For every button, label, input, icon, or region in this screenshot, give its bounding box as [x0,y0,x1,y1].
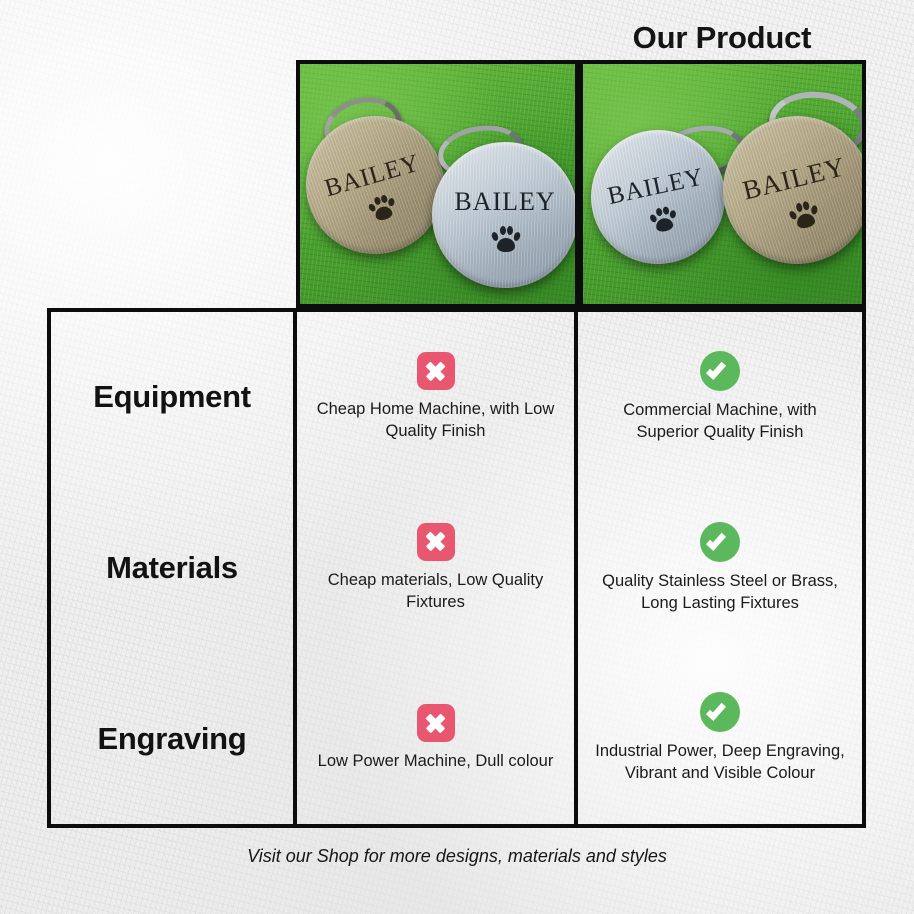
table-column-competitor: Cheap Home Machine, with Low Quality Fin… [297,312,578,824]
cell-text: Cheap materials, Low Quality Fixtures [309,570,562,614]
check-icon [700,351,740,391]
check-icon [700,692,740,732]
cell-text: Cheap Home Machine, with Low Quality Fin… [309,399,562,443]
cell-competitor-materials: Cheap materials, Low Quality Fixtures [297,483,574,654]
cell-text: Industrial Power, Deep Engraving, Vibran… [591,741,849,785]
cross-icon [417,704,455,742]
tag-engraved-name: BAILEY [605,164,706,209]
cell-competitor-equipment: Cheap Home Machine, with Low Quality Fin… [297,312,574,483]
infographic-canvas: Our Product BAILEY BAILEY [0,0,914,914]
footer-shop-note: Visit our Shop for more designs, materia… [0,846,914,867]
row-label-equipment: Equipment [51,312,293,483]
comparison-table: Equipment Materials Engraving Cheap Home… [47,308,866,828]
table-column-labels: Equipment Materials Engraving [51,312,297,824]
check-icon [700,522,740,562]
cell-text: Low Power Machine, Dull colour [318,751,554,773]
paw-print-icon [787,199,820,231]
cross-icon [417,523,455,561]
paw-print-icon [491,226,519,252]
tag-engraved-name: BAILEY [322,150,423,201]
competitor-product-photo: BAILEY BAILEY [296,60,579,308]
cell-text: Commercial Machine, with Superior Qualit… [591,400,849,444]
cell-ours-materials: Quality Stainless Steel or Brass, Long L… [578,483,862,654]
cell-competitor-engraving: Low Power Machine, Dull colour [297,653,574,824]
cross-icon [417,352,455,390]
our-product-photo: BAILEY BAILEY [579,60,866,308]
table-column-our-product: Commercial Machine, with Superior Qualit… [578,312,862,824]
row-label-engraving: Engraving [51,653,293,824]
paw-print-icon [366,193,398,223]
pet-tag-steel: BAILEY [432,142,578,288]
tag-engraved-name: BAILEY [740,153,848,205]
cell-ours-engraving: Industrial Power, Deep Engraving, Vibran… [578,653,862,824]
page-title-our-product: Our Product [578,22,866,53]
paw-print-icon [648,205,678,234]
cell-text: Quality Stainless Steel or Brass, Long L… [591,571,849,615]
tag-engraved-name: BAILEY [454,189,555,215]
row-label-materials: Materials [51,483,293,654]
cell-ours-equipment: Commercial Machine, with Superior Qualit… [578,312,862,483]
